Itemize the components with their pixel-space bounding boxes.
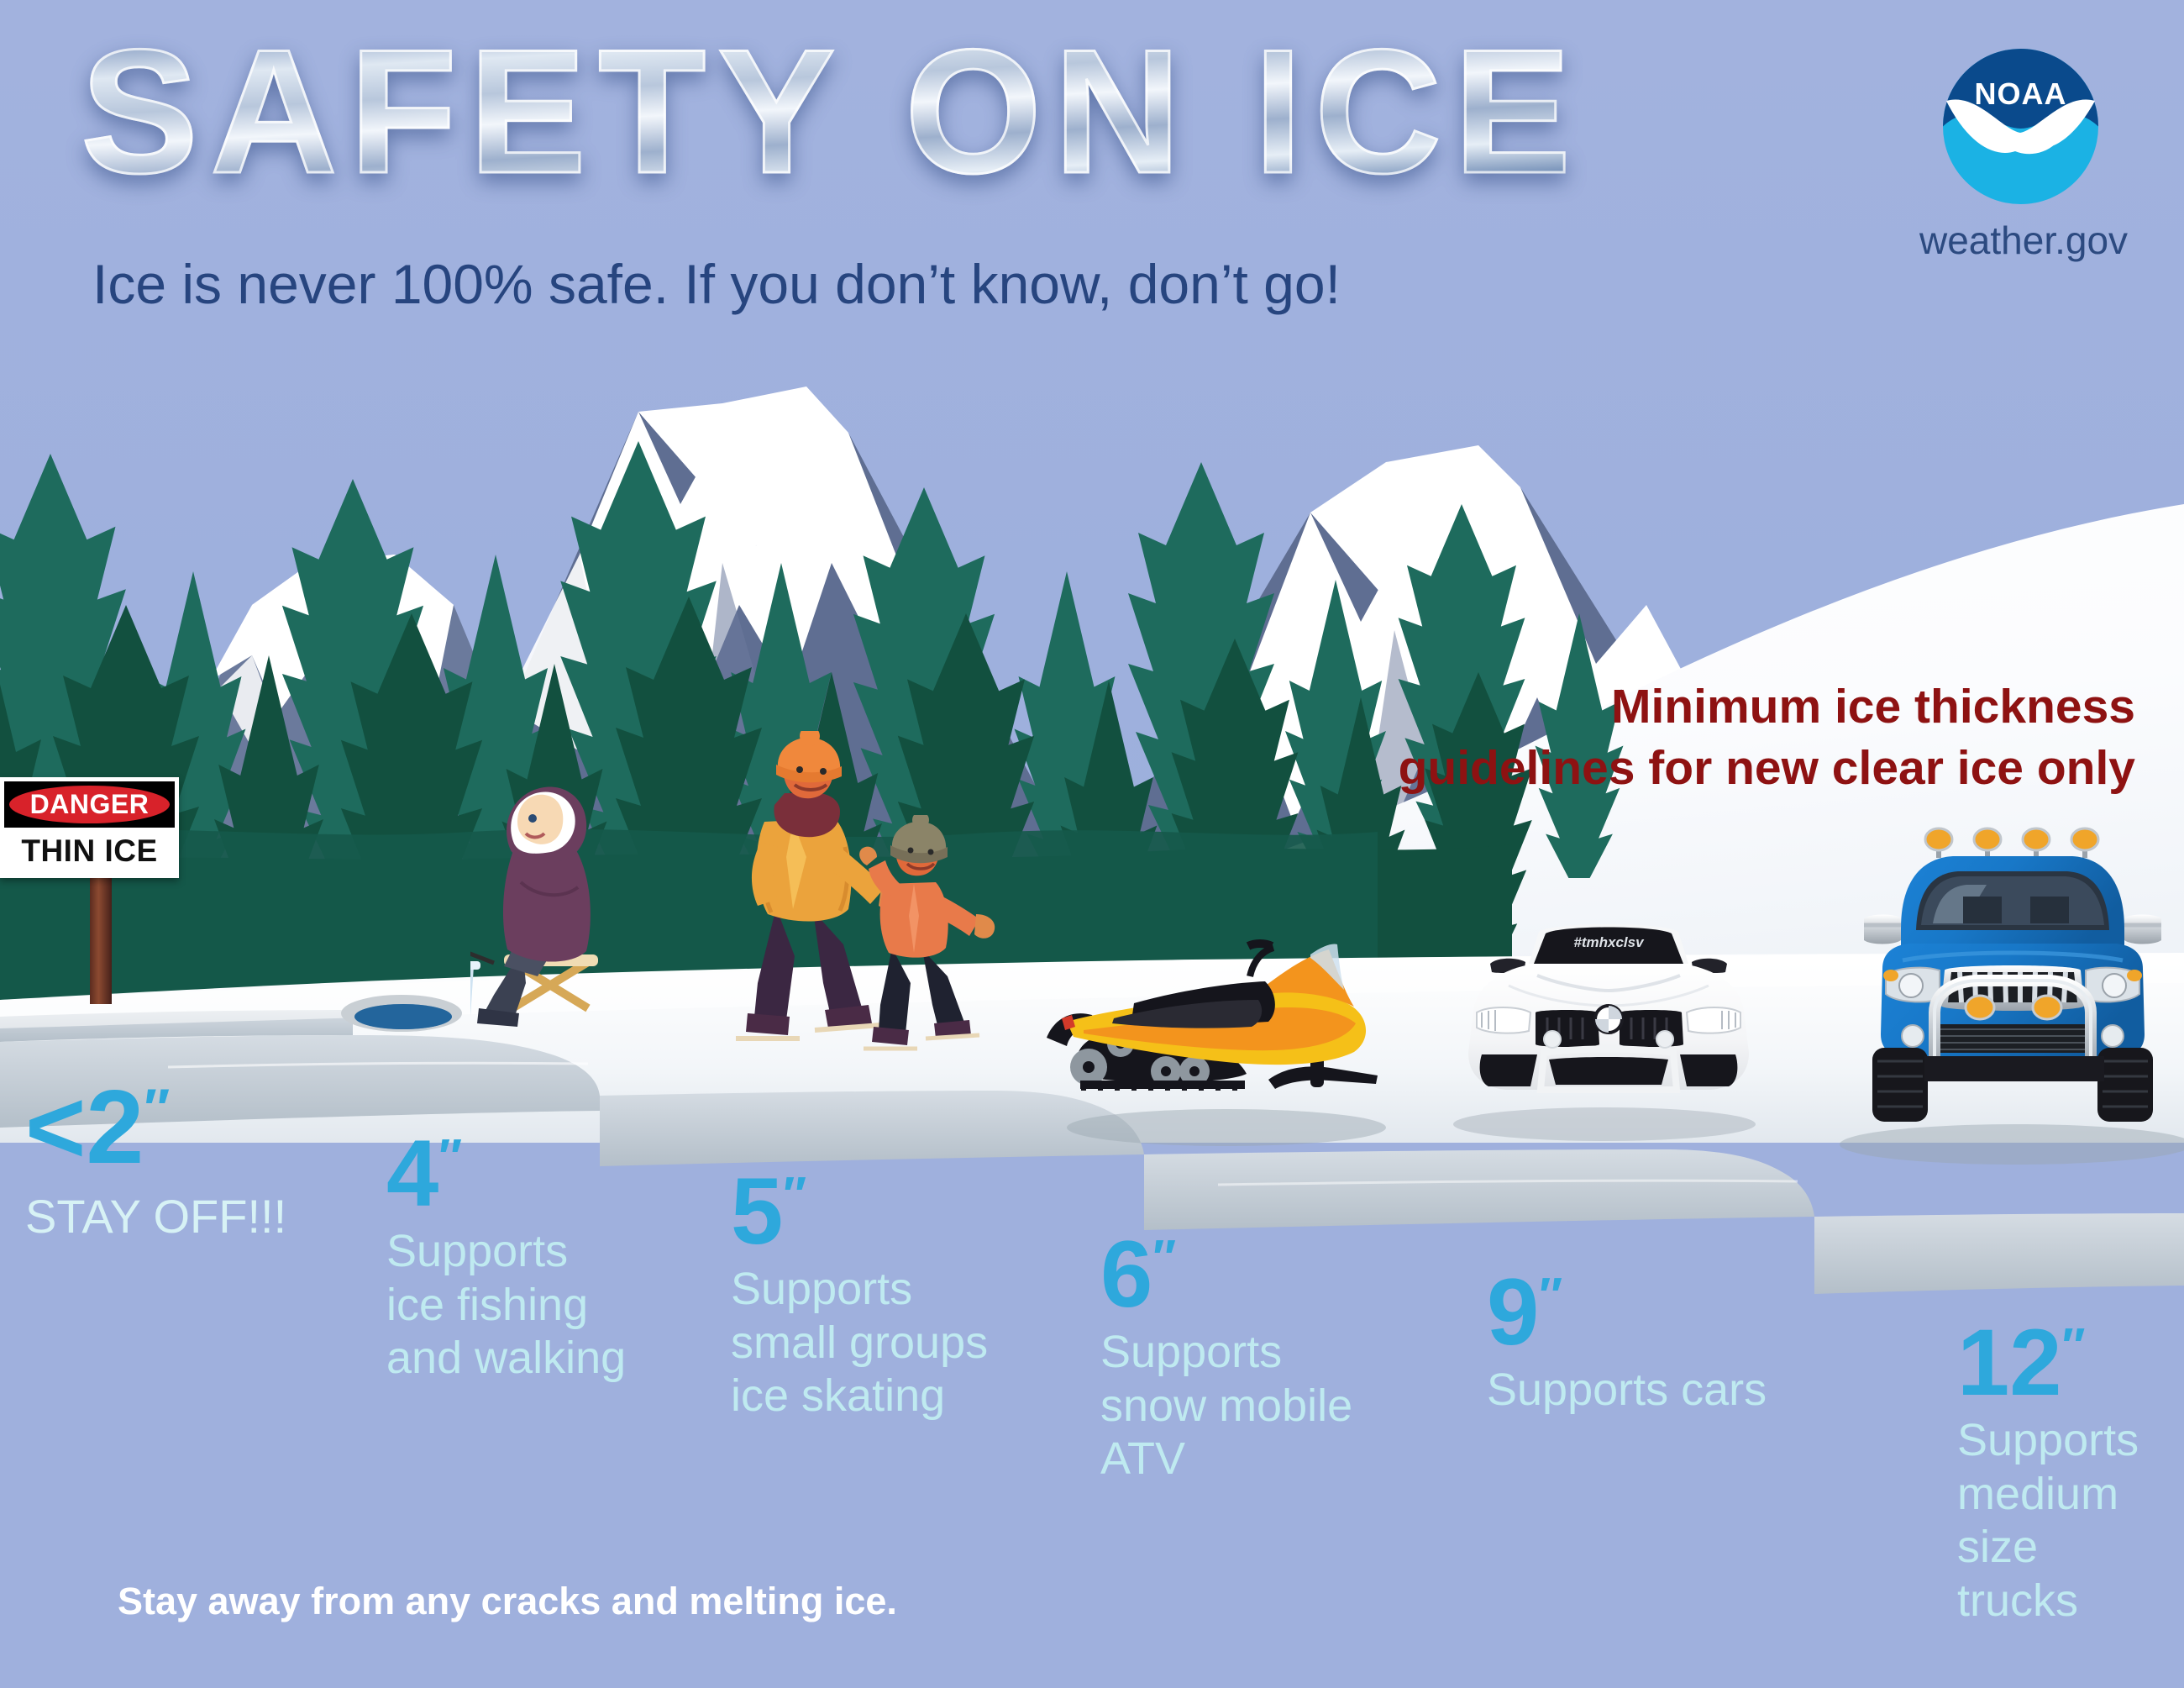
pickup-truck-icon [1852,819,2184,1138]
svg-text:NOAA: NOAA [1974,76,2066,111]
measurement-1-value: <2″ [25,1080,286,1175]
roof-lights [1925,828,2098,858]
measurement-4: 6″ Supports snow mobile ATV [1100,1231,1352,1486]
noaa-site-label: weather.gov [1919,218,2121,263]
safety-on-ice-infographic: SAFETY ON ICE SAFETY ON ICE Ice is never… [0,0,2184,1688]
snowmobile-icon [1033,899,1386,1109]
measurement-2-value: 4″ [386,1130,626,1217]
measurement-2-desc: Supports ice fishing and walking [386,1225,626,1386]
ice-skater-child-figure [840,815,1050,1067]
sign-danger-text: DANGER [30,789,150,820]
callout-text: Minimum ice thickness guidelines for new… [1295,676,2135,799]
measurement-3-value: 5″ [731,1168,988,1254]
measurement-4-value: 6″ [1100,1231,1352,1317]
measurement-6-desc: Supports medium size trucks [1957,1414,2184,1628]
sign-danger-band: DANGER [4,781,175,828]
callout-line-2: guidelines for new clear ice only [1295,738,2135,799]
danger-thin-ice-sign: DANGER THIN ICE [0,777,179,878]
measurement-3: 5″ Supports small groups ice skating [731,1168,988,1423]
tagline: Ice is never 100% safe. If you don’t kno… [92,252,1341,316]
ice-fisherman-figure [470,756,739,1033]
measurement-1: <2″ STAY OFF!!! [25,1080,286,1244]
car-icon: #tmhxclsv [1436,886,1781,1130]
noaa-logo[interactable]: NOAA weather.gov [1919,49,2121,263]
measurement-2: 4″ Supports ice fishing and walking [386,1130,626,1386]
footnote-text: Stay away from any cracks and melting ic… [118,1580,897,1623]
measurement-5-value: 9″ [1487,1269,1767,1355]
sign-thinice-band: THIN ICE [4,828,175,874]
measurement-3-desc: Supports small groups ice skating [731,1263,988,1423]
measurement-6: 12″ Supports medium size trucks [1957,1319,2184,1628]
measurement-1-desc: STAY OFF!!! [25,1189,286,1244]
page-title: SAFETY ON ICE [81,24,1583,200]
measurement-5: 9″ Supports cars [1487,1269,1767,1417]
callout-line-1: Minimum ice thickness [1295,676,2135,738]
sign-thinice-text: THIN ICE [21,833,157,869]
measurement-4-desc: Supports snow mobile ATV [1100,1326,1352,1486]
measurement-6-value: 12″ [1957,1319,2184,1406]
measurement-5-desc: Supports cars [1487,1364,1767,1417]
car-windshield-text: #tmhxclsv [1573,934,1645,950]
noaa-seal-icon: NOAA [1943,49,2098,204]
